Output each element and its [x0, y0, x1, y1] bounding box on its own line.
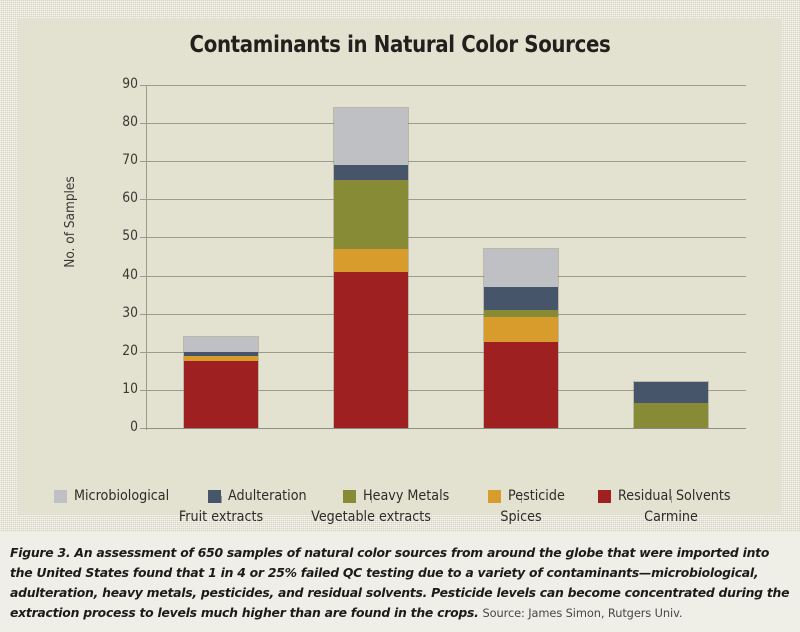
- legend-item[interactable]: Residual Solvents: [598, 488, 746, 504]
- y-axis-tick-label: 60: [101, 190, 138, 206]
- bar-group[interactable]: [634, 382, 708, 428]
- y-axis-tick-label: 20: [101, 343, 138, 359]
- legend-label: Microbiological: [74, 488, 169, 504]
- bar-group[interactable]: [334, 108, 408, 428]
- gridline: [146, 428, 746, 429]
- x-axis-labels: Fruit extractsVegetable extractsSpicesCa…: [146, 85, 746, 145]
- y-axis-title: No. of Samples: [62, 159, 78, 285]
- gridline: [146, 199, 746, 200]
- legend-item[interactable]: Microbiological: [54, 488, 182, 504]
- x-axis-tick-label: Spices: [437, 509, 604, 525]
- figure-root: Contaminants in Natural Color Sources No…: [0, 0, 800, 632]
- bar-segment[interactable]: [484, 317, 558, 342]
- y-axis-tick-label: 40: [101, 267, 138, 283]
- bar-segment[interactable]: [334, 272, 408, 428]
- y-axis-tick-label: 10: [101, 381, 138, 397]
- x-axis-tick-label: Carmine: [587, 509, 754, 525]
- legend-item[interactable]: Pesticide: [488, 488, 573, 504]
- caption-source: Source: James Simon, Rutgers Univ.: [483, 606, 683, 620]
- legend-item[interactable]: Adulteration: [208, 488, 317, 504]
- legend-label: Heavy Metals: [363, 488, 449, 504]
- y-axis-tick-label: 0: [101, 419, 138, 435]
- legend-swatch-icon: [598, 490, 611, 503]
- chart-legend: MicrobiologicalAdulterationHeavy MetalsP…: [18, 488, 782, 504]
- legend-label: Pesticide: [508, 488, 565, 504]
- bar-group[interactable]: [484, 249, 558, 428]
- gridline: [146, 276, 746, 277]
- bar-segment[interactable]: [484, 249, 558, 287]
- bar-segment[interactable]: [334, 180, 408, 249]
- y-axis-tick-labels: 0102030405060708090: [80, 85, 138, 428]
- bar-segment[interactable]: [634, 403, 708, 428]
- legend-swatch-icon: [54, 490, 67, 503]
- x-axis-tick-label: Vegetable extracts: [287, 509, 454, 525]
- legend-swatch-icon: [343, 490, 356, 503]
- bar-segment[interactable]: [484, 342, 558, 428]
- legend-swatch-icon: [488, 490, 501, 503]
- bar-segment[interactable]: [184, 337, 258, 352]
- bar-segment[interactable]: [484, 310, 558, 318]
- y-axis-tick-label: 90: [101, 76, 138, 92]
- legend-label: Residual Solvents: [618, 488, 731, 504]
- y-axis-tick-label: 80: [101, 114, 138, 130]
- chart-title: Contaminants in Natural Color Sources: [71, 32, 728, 58]
- gridline: [146, 237, 746, 238]
- y-axis-tick-label: 30: [101, 305, 138, 321]
- bar-segment[interactable]: [334, 249, 408, 272]
- bar-segment[interactable]: [334, 165, 408, 180]
- bar-segment[interactable]: [484, 287, 558, 310]
- y-axis-tick-label: 70: [101, 152, 138, 168]
- y-axis-tick-label: 50: [101, 228, 138, 244]
- legend-label: Adulteration: [228, 488, 307, 504]
- figure-caption: Figure 3. An assessment of 650 samples o…: [10, 543, 792, 623]
- chart-frame: Contaminants in Natural Color Sources No…: [0, 0, 800, 532]
- bar-segment[interactable]: [634, 382, 708, 403]
- bar-group[interactable]: [184, 337, 258, 428]
- gridline: [146, 314, 746, 315]
- legend-swatch-icon: [208, 490, 221, 503]
- gridline: [146, 161, 746, 162]
- bar-segment[interactable]: [184, 361, 258, 428]
- x-axis-tick-label: Fruit extracts: [137, 509, 304, 525]
- chart-panel: Contaminants in Natural Color Sources No…: [18, 18, 782, 514]
- legend-item[interactable]: Heavy Metals: [343, 488, 461, 504]
